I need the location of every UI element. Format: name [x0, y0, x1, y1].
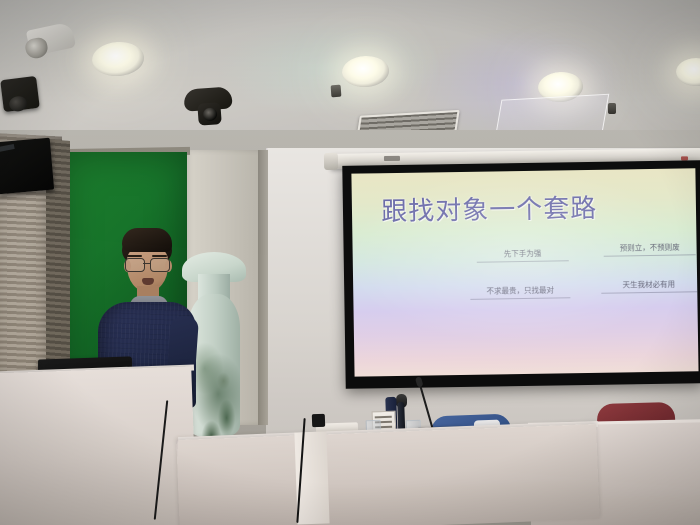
slide-bullet-1: 先下手为强: [476, 247, 568, 262]
card-line: [375, 416, 392, 418]
lectern: [0, 367, 197, 525]
glasses-icon: [125, 258, 171, 271]
slide-bullet-text: 天生我材必有用: [601, 278, 697, 293]
slide-title: 跟找对象一个套路: [381, 188, 598, 228]
box-camera-icon: [0, 76, 40, 112]
presenter-mouth: [142, 278, 154, 285]
slide-bullet-text: 先下手为强: [476, 247, 568, 261]
slide-surface: 跟找对象一个套路 先下手为强 预则立，不预则废 不求最贵，只找最对 天生我材必有…: [351, 168, 698, 376]
presenter-hair-front: [122, 228, 172, 252]
housing-label: [384, 156, 400, 161]
sprinkler-head-icon: [331, 85, 342, 98]
slide-bullet-text: 预则立，不预则废: [604, 241, 696, 255]
conference-table: [176, 424, 599, 525]
presentation-room-photo: 跟找对象一个套路 先下手为强 预则立，不预则废 不求最贵，只找最对 天生我材必有…: [0, 0, 700, 525]
sprinkler-head-icon: [608, 103, 616, 114]
glasses-lens: [150, 258, 170, 272]
glasses-bridge: [143, 263, 150, 264]
tv-reflection: [0, 144, 15, 152]
wall-mounted-tv: [0, 138, 54, 195]
door-frame: [258, 150, 268, 425]
projector-screen: 跟找对象一个套路 先下手为强 预则立，不预则废 不求最贵，只找最对 天生我材必有…: [342, 160, 700, 389]
slide-bullet-4: 天生我材必有用: [601, 278, 697, 294]
power-plug: [312, 414, 325, 427]
slide-bullet-text: 不求最贵，只找最对: [470, 284, 570, 299]
presenter-eyebrow: [152, 255, 167, 257]
ptz-camera-icon: [183, 86, 232, 111]
glasses-lens: [125, 258, 145, 272]
presenter-eyebrow: [127, 255, 142, 257]
slide-bullet-3: 不求最贵，只找最对: [470, 284, 570, 300]
slide-bullet-2: 预则立，不预则废: [604, 241, 696, 256]
